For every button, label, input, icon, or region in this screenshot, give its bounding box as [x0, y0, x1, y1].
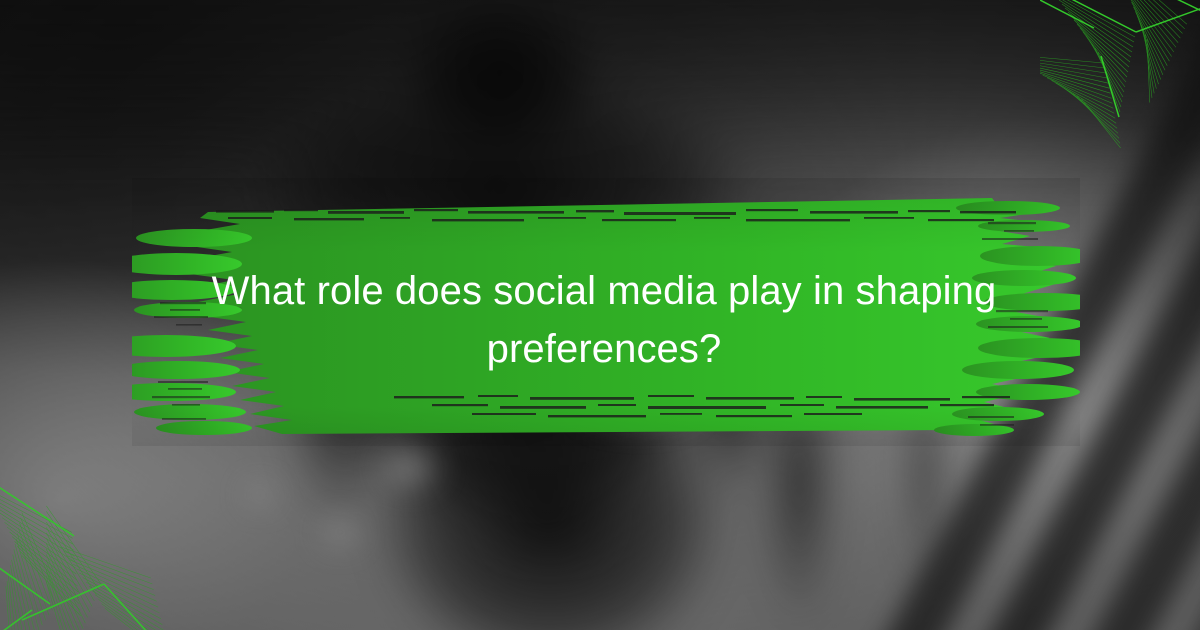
mesh-ornament-bottom-left	[0, 464, 238, 630]
headline-text: What role does social media play in shap…	[150, 262, 1058, 378]
mesh-ornament-top-right	[1040, 0, 1200, 148]
quote-card: What role does social media play in shap…	[0, 0, 1200, 630]
